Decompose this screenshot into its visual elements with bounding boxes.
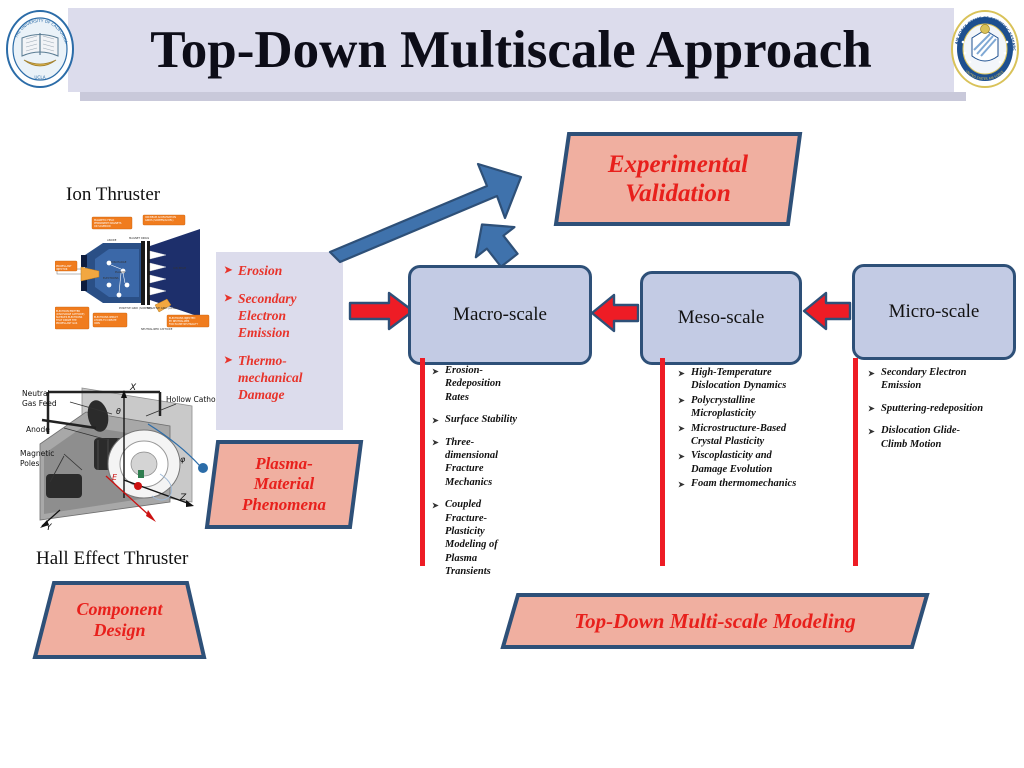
scale-box-macro[interactable]: Macro-scale [408, 265, 592, 365]
svg-text:DISCHARGE: DISCHARGE [111, 260, 127, 264]
list-item: Three-dimensional Fracture Mechanics [432, 436, 520, 490]
scale-box-meso[interactable]: Meso-scale [640, 271, 802, 365]
svg-text:IONS: IONS [94, 322, 100, 325]
red-rule-macro [420, 358, 425, 566]
svg-text:Z: Z [179, 493, 187, 503]
svg-text:INJECTOR: INJECTOR [56, 268, 68, 271]
list-item: Microstructure-Based Crystal Plasticity [678, 422, 802, 449]
scale-box-meso-label: Meso-scale [678, 307, 765, 329]
list-item: Viscoplasticity and Damage Evolution [678, 449, 802, 476]
experimental-validation-callout[interactable]: Experimental Validation [553, 131, 803, 227]
list-item: Dislocation Glide-Climb Motion [868, 424, 986, 451]
hall-thruster-caption: Hall Effect Thruster [36, 548, 188, 570]
svg-text:OR SOLENOID: OR SOLENOID [94, 225, 111, 228]
svg-text:θ: θ [116, 407, 121, 416]
svg-text:PLASMA: PLASMA [115, 270, 126, 274]
ion-thruster-caption: Ion Thruster [66, 184, 160, 206]
svg-text:Anode: Anode [26, 425, 50, 434]
svg-text:Neutral: Neutral [22, 389, 50, 398]
svg-text:φ: φ [180, 455, 186, 464]
svg-text:X: X [129, 383, 137, 393]
svg-text:PROPELLANT GAS: PROPELLANT GAS [56, 322, 78, 325]
micro-scale-bullets: Secondary Electron Emission Sputtering-r… [868, 366, 986, 460]
slide-canvas: Top-Down Multiscale Approach UCLA THE UN… [0, 0, 1024, 768]
scale-box-micro-label: Micro-scale [889, 301, 980, 323]
list-item: Erosion [224, 262, 337, 279]
title-band-shadow [80, 92, 966, 101]
svg-text:ELECTRONS: ELECTRONS [103, 276, 119, 280]
red-arrow-micro-to-meso [804, 293, 850, 329]
red-rule-micro [853, 358, 858, 566]
svg-text:Magnetic: Magnetic [20, 449, 54, 458]
svg-text:UCLA: UCLA [34, 75, 45, 80]
plasma-phenomena-panel: Erosion Secondary Electron Emission Ther… [216, 252, 343, 430]
plasma-phenomena-list: Erosion Secondary Electron Emission Ther… [216, 252, 343, 403]
ucla-seal-logo: UCLA THE UNIVERSITY OF CALIFORNIA [4, 8, 76, 90]
component-design-callout[interactable]: Component Design [32, 580, 207, 660]
red-rule-meso [660, 358, 665, 566]
page-title: Top-Down Multiscale Approach [68, 8, 954, 92]
list-item: Sputtering-redeposition [868, 402, 986, 415]
top-down-modeling-callout[interactable]: Top-Down Multi-scale Modeling [500, 592, 930, 650]
svg-text:MAGNET RINGS: MAGNET RINGS [129, 236, 149, 240]
svg-text:NEUTRALIZER CATHODE: NEUTRALIZER CATHODE [141, 327, 173, 331]
svg-text:FOR PLUME NEUTRALITY: FOR PLUME NEUTRALITY [169, 323, 199, 326]
scale-box-micro[interactable]: Micro-scale [852, 264, 1016, 360]
plasma-material-callout[interactable]: Plasma- Material Phenomena [204, 439, 364, 530]
svg-text:Poles: Poles [20, 459, 40, 468]
svg-text:GRIDS (SCREEN/ACCEL): GRIDS (SCREEN/ACCEL) [145, 219, 174, 222]
svg-text:NEGATIVE GRID (ACCEL): NEGATIVE GRID (ACCEL) [147, 306, 179, 310]
ion-thruster-figure: MAGNETIC FIELDPERMANENT MAGNETSOR SOLENO… [55, 213, 240, 331]
svg-text:Gas Feed: Gas Feed [22, 399, 57, 408]
meso-scale-bullets: High-Temperature Dislocation Dynamics Po… [678, 366, 802, 492]
red-arrow-meso-to-macro [592, 295, 638, 331]
list-item: Secondary Electron Emission [868, 366, 986, 393]
hall-thruster-figure: NeutralGas Feed Anode MagneticPoles Holl… [20, 370, 230, 540]
scale-box-macro-label: Macro-scale [453, 304, 547, 326]
blue-diagonal-arrow [330, 164, 521, 262]
list-item: Thermo-mechanical Damage [224, 352, 337, 403]
macro-scale-bullets: Erosion-Redeposition Rates Surface Stabi… [432, 364, 520, 588]
svg-text:ANODE: ANODE [107, 238, 117, 242]
afosr-seal-logo: AIR FORCE OFFICE OF SCIENTIFIC RESEARCH … [949, 8, 1021, 90]
list-item: Foam thermomechanics [678, 477, 802, 490]
list-item: Surface Stability [432, 413, 520, 426]
svg-text:ION BEAM: ION BEAM [173, 266, 186, 270]
list-item: Erosion-Redeposition Rates [432, 364, 520, 404]
list-item: Coupled Fracture-Plasticity Modeling of … [432, 498, 520, 578]
red-arrow-into-macro [350, 293, 413, 329]
list-item: Polycrystalline Microplasticity [678, 394, 802, 421]
list-item: High-Temperature Dislocation Dynamics [678, 366, 802, 393]
list-item: Secondary Electron Emission [224, 290, 337, 341]
